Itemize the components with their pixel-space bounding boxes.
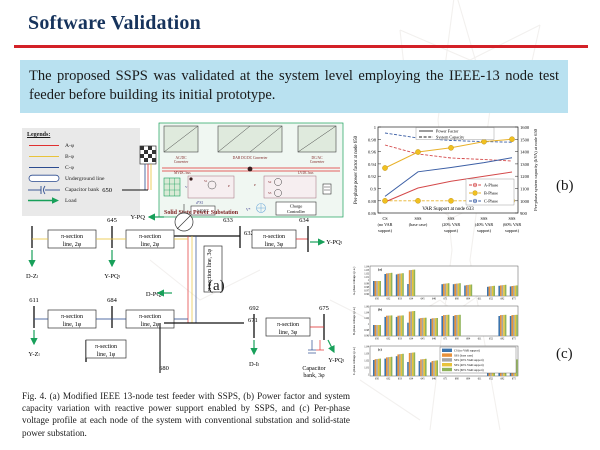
- svg-text:1: 1: [374, 125, 377, 130]
- svg-text:B-Phase: B-Phase: [484, 190, 498, 195]
- svg-text:646: 646: [432, 298, 437, 301]
- svg-text:0.98: 0.98: [364, 329, 369, 332]
- svg-text:A-phase voltage (p.u.): A-phase voltage (p.u.): [352, 267, 356, 296]
- svg-text:(no VAR: (no VAR: [378, 222, 393, 227]
- svg-text:633: 633: [398, 338, 403, 341]
- svg-text:π-section: π-section: [139, 234, 161, 240]
- branch-652: π-section line, 1φ 680: [86, 340, 169, 372]
- svg-text:646: 646: [432, 378, 437, 381]
- svg-text:π-section: π-section: [263, 234, 285, 240]
- svg-text:0.96: 0.96: [368, 150, 377, 155]
- svg-text:π-section: π-section: [61, 314, 83, 320]
- svg-text:900: 900: [520, 211, 528, 216]
- panel-label-c: (c): [556, 346, 573, 363]
- svg-text:(b): (b): [378, 308, 382, 312]
- svg-text:1.06: 1.06: [364, 306, 369, 309]
- svg-text:CS (no VAR support): CS (no VAR support): [454, 349, 480, 353]
- svg-text:646: 646: [432, 338, 437, 341]
- svg-text:(40% VAR: (40% VAR: [475, 222, 494, 227]
- load-label-ypq-4: Y-PQₗ: [328, 357, 344, 364]
- node-label-645: 645: [107, 217, 117, 224]
- svg-text:680: 680: [455, 338, 460, 341]
- svg-text:SSS (60% VAR support): SSS (60% VAR support): [454, 368, 484, 372]
- svg-text:634: 634: [409, 338, 414, 341]
- chart-b-y2label: Per-phase system capacity (kVA) at node …: [533, 128, 538, 211]
- figure-area: Legends: A-φ B-φ C-φ Unde: [0, 118, 600, 390]
- svg-text:C-Phase: C-Phase: [484, 198, 498, 203]
- node-label-675: 675: [319, 305, 329, 312]
- svg-text:692: 692: [500, 378, 505, 381]
- svg-text:SSS: SSS: [481, 216, 489, 221]
- branch-692-675: 692 π-section line, 3φ D-Iₗ 675 Capacito…: [249, 305, 344, 379]
- node-label-684: 684: [107, 297, 118, 304]
- branch-633-634: π-section line, 3φ 633 634 Y-PQₗ: [223, 217, 342, 252]
- svg-text:633: 633: [398, 298, 403, 301]
- svg-text:(20% VAR: (20% VAR: [442, 222, 461, 227]
- svg-text:support): support): [444, 228, 459, 233]
- svg-text:1.02: 1.02: [364, 317, 369, 320]
- node-label-671: 671: [248, 317, 258, 324]
- panel-label-b: (b): [556, 178, 574, 195]
- svg-text:line, 3φ: line, 3φ: [265, 242, 284, 248]
- svg-text:650: 650: [375, 338, 380, 341]
- svg-text:632: 632: [386, 338, 391, 341]
- svg-text:0.88: 0.88: [368, 199, 377, 204]
- svg-text:634: 634: [409, 378, 414, 381]
- svg-text:line, 2φ: line, 2φ: [141, 322, 160, 328]
- svg-text:CS: CS: [382, 216, 388, 221]
- svg-text:1.02: 1.02: [364, 360, 369, 363]
- svg-text:SSS (base case): SSS (base case): [454, 353, 473, 357]
- svg-text:support): support): [477, 228, 492, 233]
- load-label-dpq: D-PQₗ: [146, 291, 162, 298]
- svg-text:1.04: 1.04: [364, 311, 369, 314]
- node-label-680: 680: [159, 365, 169, 372]
- lead-statement: The proposed SSPS was validated at the s…: [20, 60, 568, 113]
- svg-text:684: 684: [466, 378, 471, 381]
- voltage-chart-legend: CS (no VAR support) SSS (base case) SSS …: [440, 347, 516, 373]
- svg-text:π-section: π-section: [95, 344, 117, 350]
- panel-label-a: (a): [208, 278, 225, 295]
- svg-text:support): support): [378, 228, 393, 233]
- svg-text:SSS (40% VAR support): SSS (40% VAR support): [454, 363, 484, 367]
- svg-text:SSS: SSS: [415, 216, 423, 221]
- svg-text:692: 692: [500, 338, 505, 341]
- svg-text:1: 1: [368, 323, 370, 326]
- chart-b-ylabel: Per-phase power factor at node 650: [354, 135, 359, 204]
- svg-text:1300: 1300: [520, 162, 530, 167]
- svg-text:645: 645: [421, 338, 426, 341]
- svg-text:SSS: SSS: [448, 216, 456, 221]
- load-label-dzl-1: D-Zₗ: [26, 273, 38, 280]
- svg-text:671: 671: [443, 378, 448, 381]
- voltage-panel-a-phase: 1.041.031.02 1.0110.99 0.980.970.96 A-ph…: [352, 266, 518, 301]
- svg-text:1600: 1600: [520, 125, 530, 130]
- svg-text:0.94: 0.94: [368, 162, 377, 167]
- svg-text:632: 632: [386, 378, 391, 381]
- node-label-611: 611: [29, 297, 39, 304]
- svg-text:1: 1: [368, 373, 370, 376]
- voltage-panel-b-phase: 1.061.041.02 10.980.96 B-phase voltage (…: [352, 306, 518, 341]
- capacitor-bank-675: Capacitor bank, 3φ: [302, 340, 325, 379]
- node-label-633: 633: [223, 217, 233, 224]
- svg-text:0.9: 0.9: [370, 187, 376, 192]
- svg-text:671: 671: [443, 338, 448, 341]
- svg-text:684: 684: [466, 298, 471, 301]
- svg-text:0.92: 0.92: [368, 174, 377, 179]
- bus-671: 671: [160, 317, 258, 373]
- svg-text:645: 645: [421, 378, 426, 381]
- svg-text:634: 634: [409, 298, 414, 301]
- svg-text:1.01: 1.01: [364, 367, 369, 370]
- svg-text:C-phase voltage (p.u.): C-phase voltage (p.u.): [352, 347, 356, 375]
- svg-text:1.04: 1.04: [364, 346, 369, 349]
- svg-text:SSS (20% VAR support): SSS (20% VAR support): [454, 358, 484, 362]
- load-label-dil: D-Iₗ: [249, 361, 259, 368]
- load-label-ypq-2: Y-PQₗ: [104, 273, 120, 280]
- svg-text:1400: 1400: [520, 150, 530, 155]
- svg-text:A-Phase: A-Phase: [484, 182, 498, 187]
- svg-text:0.96: 0.96: [364, 293, 369, 296]
- svg-text:652: 652: [489, 378, 494, 381]
- svg-text:611: 611: [478, 378, 482, 381]
- svg-text:671: 671: [443, 298, 448, 301]
- svg-text:(60% VAR: (60% VAR: [503, 222, 522, 227]
- load-label-yzl: Y-Zₗ: [28, 351, 39, 358]
- svg-text:line, 2φ: line, 2φ: [63, 242, 82, 248]
- svg-text:(a): (a): [378, 268, 382, 272]
- svg-text:675: 675: [512, 338, 517, 341]
- svg-text:611: 611: [478, 338, 482, 341]
- chart-voltage-profile: 1.041.031.02 1.0110.99 0.980.970.96 A-ph…: [348, 264, 540, 390]
- svg-text:645: 645: [421, 298, 426, 301]
- chart-b-annotation: VAR Support at node 633: [422, 207, 474, 212]
- svg-text:1500: 1500: [520, 137, 530, 142]
- svg-text:1100: 1100: [520, 187, 530, 192]
- svg-text:650: 650: [375, 378, 380, 381]
- svg-text:675: 675: [512, 378, 517, 381]
- node-label-650: 650: [102, 187, 112, 194]
- svg-text:System Capacity: System Capacity: [436, 134, 465, 139]
- svg-text:line, 1φ: line, 1φ: [63, 322, 82, 328]
- svg-text:632: 632: [386, 298, 391, 301]
- svg-text:Capacitor: Capacitor: [302, 366, 325, 372]
- svg-text:0.86: 0.86: [368, 211, 377, 216]
- svg-text:0.96: 0.96: [364, 334, 369, 337]
- svg-text:line, 1φ: line, 1φ: [97, 352, 116, 358]
- svg-text:652: 652: [489, 298, 494, 301]
- node-label-692: 692: [249, 305, 259, 312]
- svg-text:(c): (c): [378, 348, 382, 352]
- svg-text:675: 675: [512, 298, 517, 301]
- ssps-interface-machine: [175, 204, 193, 231]
- svg-text:1000: 1000: [520, 199, 530, 204]
- svg-text:680: 680: [455, 378, 460, 381]
- svg-text:B-phase voltage (p.u.): B-phase voltage (p.u.): [352, 307, 356, 335]
- svg-text:680: 680: [455, 298, 460, 301]
- svg-text:SSS: SSS: [509, 216, 517, 221]
- svg-text:0.98: 0.98: [368, 137, 377, 142]
- figure-caption: Fig. 4. (a) Modified IEEE 13-node test f…: [22, 390, 350, 439]
- svg-text:line, 2φ: line, 2φ: [141, 242, 160, 248]
- load-label-ypq-3: Y-PQₗ: [326, 239, 342, 246]
- ieee13-feeder-diagram: 650 Y-PQ 632 645 π-section line, 2φ: [12, 118, 348, 383]
- svg-text:(base case): (base case): [409, 222, 428, 227]
- svg-text:611: 611: [478, 298, 482, 301]
- svg-text:bank, 3φ: bank, 3φ: [303, 373, 325, 379]
- svg-text:π-section: π-section: [61, 234, 83, 240]
- chart-power-factor-capacity: 1 0.98 0.96 0.94 0.92 0.9 0.88 0.86 Per-…: [348, 123, 540, 241]
- title-divider: [14, 45, 588, 48]
- page-title: Software Validation: [28, 12, 201, 35]
- svg-text:1.03: 1.03: [364, 353, 369, 356]
- load-label-ypq-1: Y-PQ: [131, 214, 146, 221]
- svg-text:650: 650: [375, 298, 380, 301]
- svg-text:692: 692: [500, 298, 505, 301]
- svg-text:652: 652: [489, 338, 494, 341]
- svg-text:633: 633: [398, 378, 403, 381]
- svg-text:support): support): [505, 228, 520, 233]
- chart-b-legend-top: Power Factor System Capacity: [416, 128, 494, 140]
- svg-text:1200: 1200: [520, 174, 530, 179]
- substation-source: 650: [102, 146, 156, 194]
- node-label-634: 634: [299, 217, 310, 224]
- chart-b-legend-right: A-Phase B-Phase C-Phase: [466, 179, 514, 205]
- branch-645-646: 645 π-section line, 2φ π-section line, 2…: [26, 217, 188, 280]
- voltage-panel-c-phase: 1.041.031.02 1.011 C-phase voltage (p.u.…: [352, 346, 518, 381]
- svg-text:line, 3φ: line, 3φ: [279, 330, 298, 336]
- svg-text:π-section: π-section: [277, 322, 299, 328]
- svg-text:Power Factor: Power Factor: [436, 128, 459, 133]
- svg-text:π-section: π-section: [139, 314, 161, 320]
- svg-text:684: 684: [466, 338, 471, 341]
